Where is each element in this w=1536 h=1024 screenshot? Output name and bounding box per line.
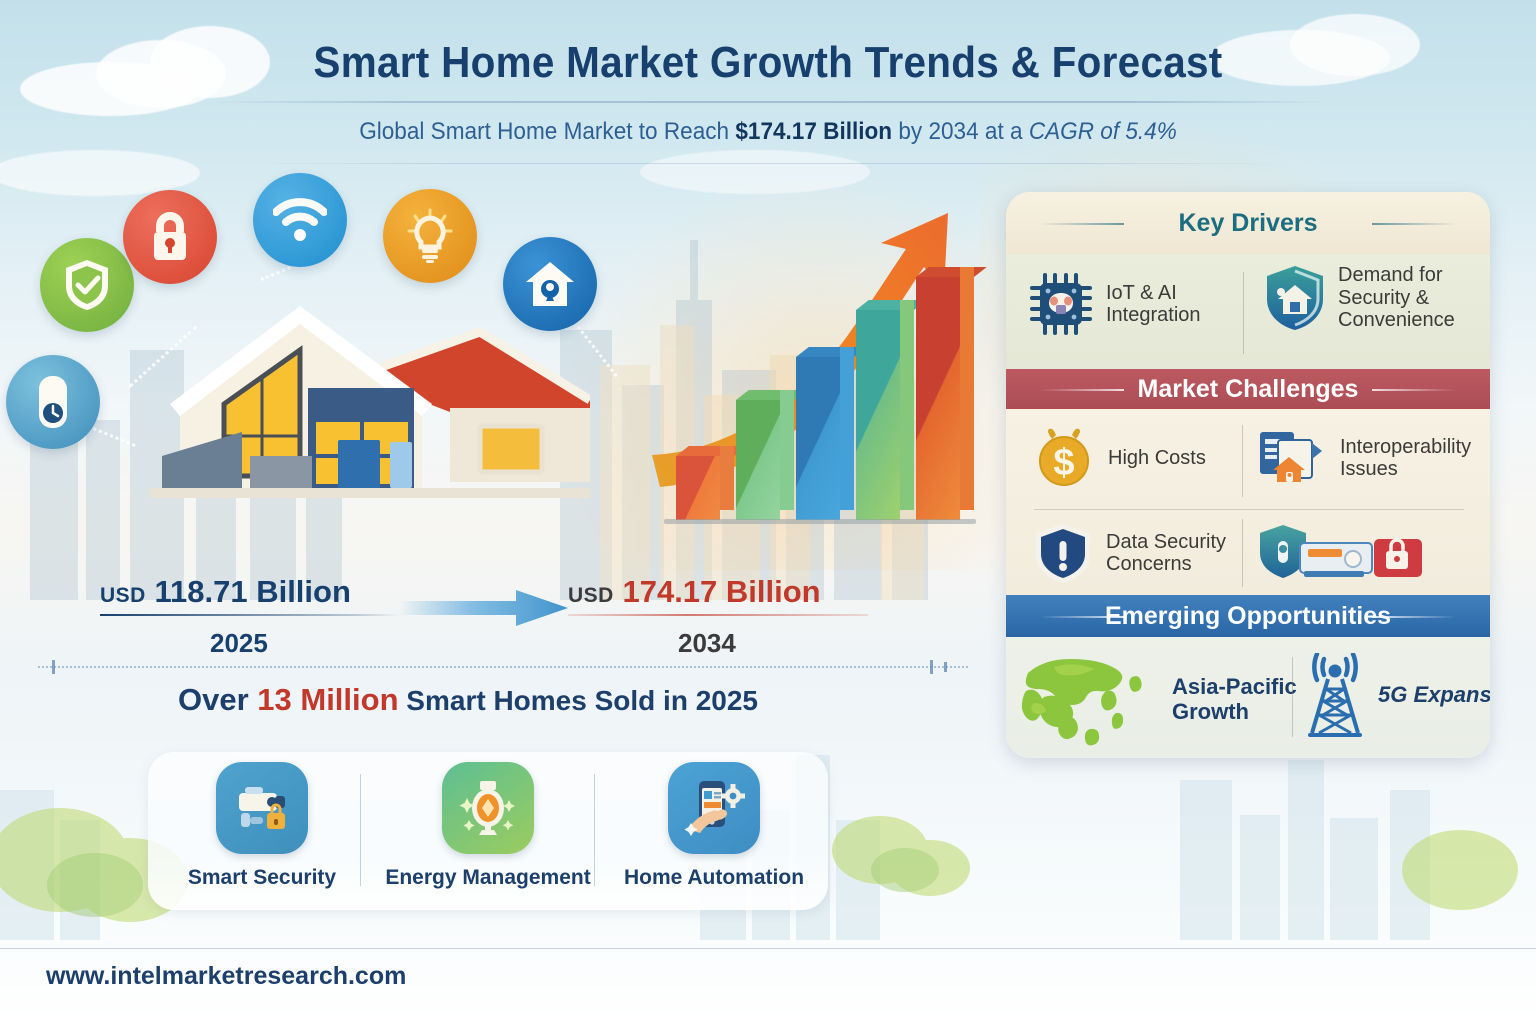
driver-label: IoT & AIIntegration [1106, 282, 1201, 327]
section-header-market-challenges: Market Challenges [1006, 369, 1490, 409]
wifi-icon [253, 173, 347, 267]
highlight-post: Smart Homes Sold in 2025 [399, 685, 758, 716]
driver-label: Demand forSecurity &Convenience [1338, 264, 1455, 331]
shield-alert-icon [1032, 521, 1094, 585]
insights-panel: Key Drivers [1006, 192, 1490, 758]
segment-card-smart-security[interactable]: Smart Security [162, 762, 362, 902]
opportunity-item-asia-pacific[interactable]: Asia-PacificGrowth [1020, 651, 1290, 749]
units-sold-highlight: Over 13 Million Smart Homes Sold in 2025 [178, 682, 758, 718]
segment-label: Energy Management [385, 866, 590, 890]
section-title: Emerging Opportunities [1091, 602, 1405, 631]
security-camera-icon [216, 762, 308, 854]
section-title: Key Drivers [1165, 209, 1332, 238]
segment-label: Home Automation [624, 866, 804, 890]
challenge-item-interoperability[interactable]: InteroperabilityIssues [1256, 427, 1490, 489]
value-end-year: 2034 [678, 628, 736, 659]
section-body-emerging-opportunities: Asia-PacificGrowth [1006, 637, 1490, 758]
page-title: Smart Home Market Growth Trends & Foreca… [61, 38, 1474, 88]
value-start-year: 2025 [210, 628, 268, 659]
segment-cards: Smart Security Energy Management [148, 752, 828, 910]
svg-text:$: $ [1053, 442, 1074, 484]
page-subtitle: Global Smart Home Market to Reach $174.1… [46, 118, 1490, 146]
lightbulb-icon [383, 189, 477, 283]
segment-card-home-automation[interactable]: Home Automation [614, 762, 814, 902]
challenge-label: Data SecurityConcerns [1106, 531, 1226, 576]
lock-icon [123, 190, 217, 284]
shield-lock-server-icon [1256, 521, 1426, 583]
market-growth-bar-chart [670, 275, 970, 520]
subtitle-value: $174.17 Billion [735, 118, 892, 145]
subtitle-pre: Global Smart Home Market to Reach [359, 118, 735, 145]
bar-3 [796, 357, 840, 520]
value-end-unit: USD [568, 584, 614, 607]
panel-vertical-divider [1242, 425, 1243, 497]
money-bag-icon: $ [1032, 427, 1096, 489]
header-rule-left [1040, 223, 1124, 225]
home-location-icon [503, 237, 597, 331]
shield-home-icon [1264, 263, 1326, 333]
footer-url[interactable]: www.intelmarketresearch.com [46, 962, 406, 991]
panel-horizontal-divider [1034, 509, 1464, 510]
infographic-canvas: Smart Home Market Growth Trends & Foreca… [0, 0, 1536, 1024]
cell-tower-icon [1304, 653, 1366, 737]
hero-illustration [0, 175, 1000, 575]
section-header-key-drivers: Key Drivers [1006, 192, 1490, 254]
energy-lamp-icon [442, 762, 534, 854]
section-body-key-drivers: IoT & AIIntegration Demand forSecurity &… [1006, 254, 1490, 369]
title-divider [208, 101, 1328, 103]
segment-divider [594, 774, 595, 886]
panel-vertical-divider [1242, 519, 1243, 587]
highlight-number: 13 Million [257, 682, 398, 717]
microchip-ai-icon [1028, 271, 1094, 337]
footer-divider [0, 948, 1536, 949]
header-rule-right [1372, 389, 1456, 391]
value-card-end: USD 174.17 Billion [568, 574, 898, 630]
section-header-emerging-opportunities: Emerging Opportunities [1006, 595, 1490, 637]
challenge-label: High Costs [1108, 447, 1206, 469]
segment-card-energy-management[interactable]: Energy Management [388, 762, 588, 902]
section-title: Market Challenges [1124, 375, 1373, 404]
driver-item-security-convenience[interactable]: Demand forSecurity &Convenience [1264, 263, 1489, 333]
divider-end-cap [944, 662, 947, 672]
segment-label: Smart Security [188, 866, 336, 890]
bar-4 [856, 310, 900, 520]
market-value-comparison: USD 118.71 Billion 2025 USD 174.17 Billi… [38, 568, 968, 676]
value-end-amount: 174.17 Billion [622, 574, 820, 609]
header-rule-left [1040, 389, 1124, 391]
header-rule-right [1372, 223, 1456, 225]
panel-vertical-divider [1243, 272, 1244, 354]
highlight-pre: Over [178, 682, 257, 717]
challenge-label: InteroperabilityIssues [1340, 436, 1471, 481]
opportunity-label: 5G Expansion [1378, 683, 1490, 708]
documents-home-icon [1256, 427, 1328, 489]
band-dotted-divider [38, 666, 968, 672]
opportunity-item-5g[interactable]: 5G Expansion [1304, 653, 1490, 737]
value-card-start: USD 118.71 Billion [100, 574, 430, 630]
challenge-item-high-costs[interactable]: $ High Costs [1032, 427, 1242, 489]
opportunity-label: Asia-PacificGrowth [1172, 675, 1297, 724]
bar-2 [736, 400, 780, 520]
bar-5 [916, 277, 960, 520]
challenge-item-data-security[interactable]: Data SecurityConcerns [1032, 521, 1242, 585]
section-body-market-challenges: $ High Costs [1006, 409, 1490, 595]
value-start-underline [100, 614, 400, 616]
panel-vertical-divider [1292, 657, 1293, 737]
bar-1 [676, 456, 720, 520]
subtitle-cagr: CAGR of 5.4% [1029, 118, 1177, 145]
transition-arrow-icon [398, 588, 568, 628]
value-end-underline [568, 614, 868, 616]
subtitle-mid: by 2034 at a [892, 118, 1029, 145]
asia-map-icon [1020, 651, 1160, 749]
challenge-item-device-lock[interactable] [1256, 521, 1486, 583]
segment-divider [360, 774, 361, 886]
value-start-unit: USD [100, 584, 146, 607]
divider-end-cap [930, 660, 933, 674]
subtitle-divider [250, 163, 1290, 164]
phone-gear-hand-icon [668, 762, 760, 854]
shield-check-icon [40, 238, 134, 332]
value-start-amount: 118.71 Billion [154, 574, 350, 609]
driver-item-iot-ai[interactable]: IoT & AIIntegration [1028, 271, 1243, 337]
header: Smart Home Market Growth Trends & Foreca… [0, 0, 1536, 175]
thermostat-icon [6, 355, 100, 449]
chart-baseline [664, 519, 976, 524]
divider-end-cap [52, 660, 55, 674]
